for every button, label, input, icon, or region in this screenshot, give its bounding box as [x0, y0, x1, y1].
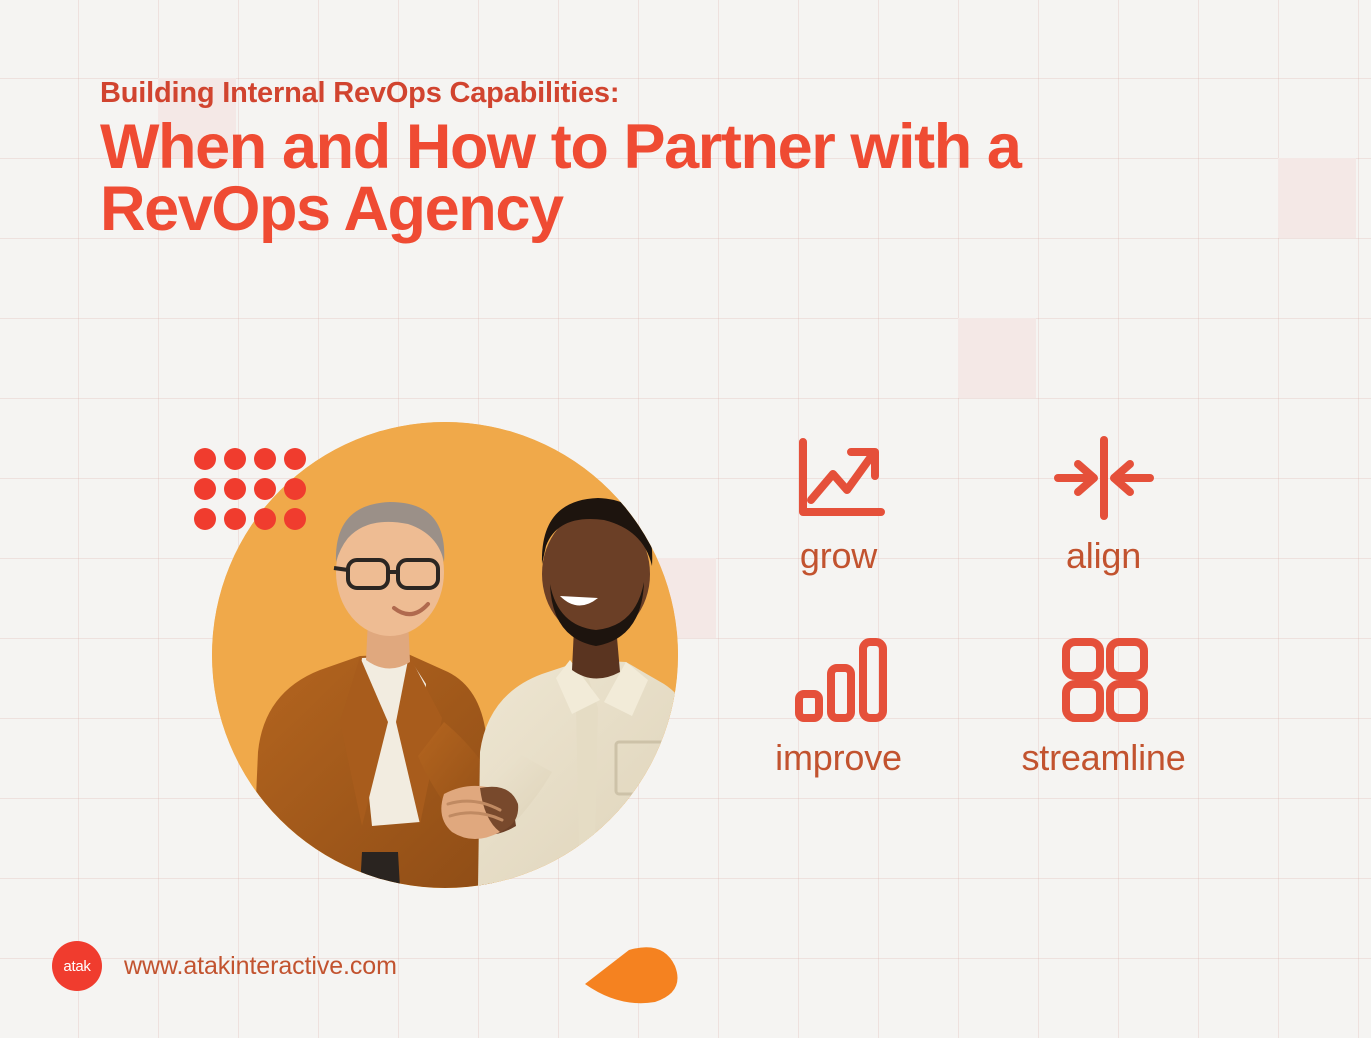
title-line-1: When and How to Partner with a	[100, 117, 1220, 179]
dot	[284, 478, 306, 500]
dot	[284, 508, 306, 530]
title-line-2: RevOps Agency	[100, 179, 1220, 241]
dot	[194, 448, 216, 470]
ascending-bars-icon	[789, 634, 889, 726]
dot	[284, 448, 306, 470]
dot	[194, 478, 216, 500]
dot	[224, 448, 246, 470]
feature-label: align	[1066, 538, 1141, 574]
footer: atak www.atakinteractive.com	[52, 941, 397, 991]
orange-teardrop-shape	[585, 946, 680, 1004]
dot	[254, 478, 276, 500]
feature-label: grow	[800, 538, 877, 574]
dot	[224, 478, 246, 500]
dot	[224, 508, 246, 530]
feature-improve: improve	[706, 634, 971, 776]
website-url[interactable]: www.atakinteractive.com	[124, 952, 397, 981]
page-title: When and How to Partner with a RevOps Ag…	[100, 117, 1220, 240]
align-center-arrows-icon	[1052, 432, 1156, 524]
photo-composition	[212, 422, 678, 888]
grid-highlight-cell	[1278, 158, 1356, 238]
headline-block: Building Internal RevOps Capabilities: W…	[100, 76, 1220, 240]
feature-grid: grow align imp	[706, 432, 1236, 776]
line-chart-up-icon	[791, 432, 887, 524]
slide-canvas: Building Internal RevOps Capabilities: W…	[0, 0, 1371, 1038]
dot	[254, 508, 276, 530]
eyebrow-text: Building Internal RevOps Capabilities:	[100, 76, 1220, 111]
feature-streamline: streamline	[971, 634, 1236, 776]
dot	[254, 448, 276, 470]
dot-grid-decoration	[194, 448, 314, 538]
grid-highlight-cell	[958, 318, 1036, 398]
four-squares-grid-icon	[1058, 634, 1150, 726]
feature-label: streamline	[1021, 740, 1185, 776]
atak-logo[interactable]: atak	[52, 941, 102, 991]
feature-label: improve	[775, 740, 902, 776]
logo-text: atak	[63, 958, 90, 975]
dot	[194, 508, 216, 530]
feature-align: align	[971, 432, 1236, 574]
feature-grow: grow	[706, 432, 971, 574]
